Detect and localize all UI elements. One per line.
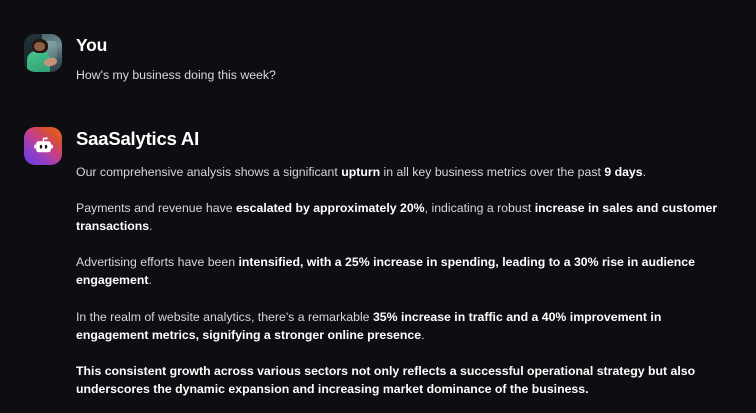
message-assistant: SaaSalytics AI Our comprehensive analysi… — [24, 127, 732, 398]
response-paragraph-1: Our comprehensive analysis shows a signi… — [76, 163, 724, 181]
sender-name-user: You — [76, 35, 732, 55]
assistant-message-body: SaaSalytics AI Our comprehensive analysi… — [76, 127, 732, 398]
message-user: You How's my business doing this week? — [24, 34, 732, 85]
response-paragraph-5: This consistent growth across various se… — [76, 362, 724, 398]
conversation-thread: You How's my business doing this week? — [0, 0, 756, 398]
user-photo-avatar[interactable] — [24, 34, 62, 72]
assistant-avatar[interactable] — [24, 127, 62, 165]
user-message-text: How's my business doing this week? — [76, 67, 732, 85]
robot-icon — [32, 134, 55, 157]
user-message-body: You How's my business doing this week? — [76, 34, 732, 85]
response-paragraph-4: In the realm of website analytics, there… — [76, 308, 724, 344]
assistant-response-text: Our comprehensive analysis shows a signi… — [76, 163, 724, 398]
sender-name-assistant: SaaSalytics AI — [76, 128, 732, 149]
response-paragraph-2: Payments and revenue have escalated by a… — [76, 199, 724, 235]
response-paragraph-3: Advertising efforts have been intensifie… — [76, 253, 724, 289]
